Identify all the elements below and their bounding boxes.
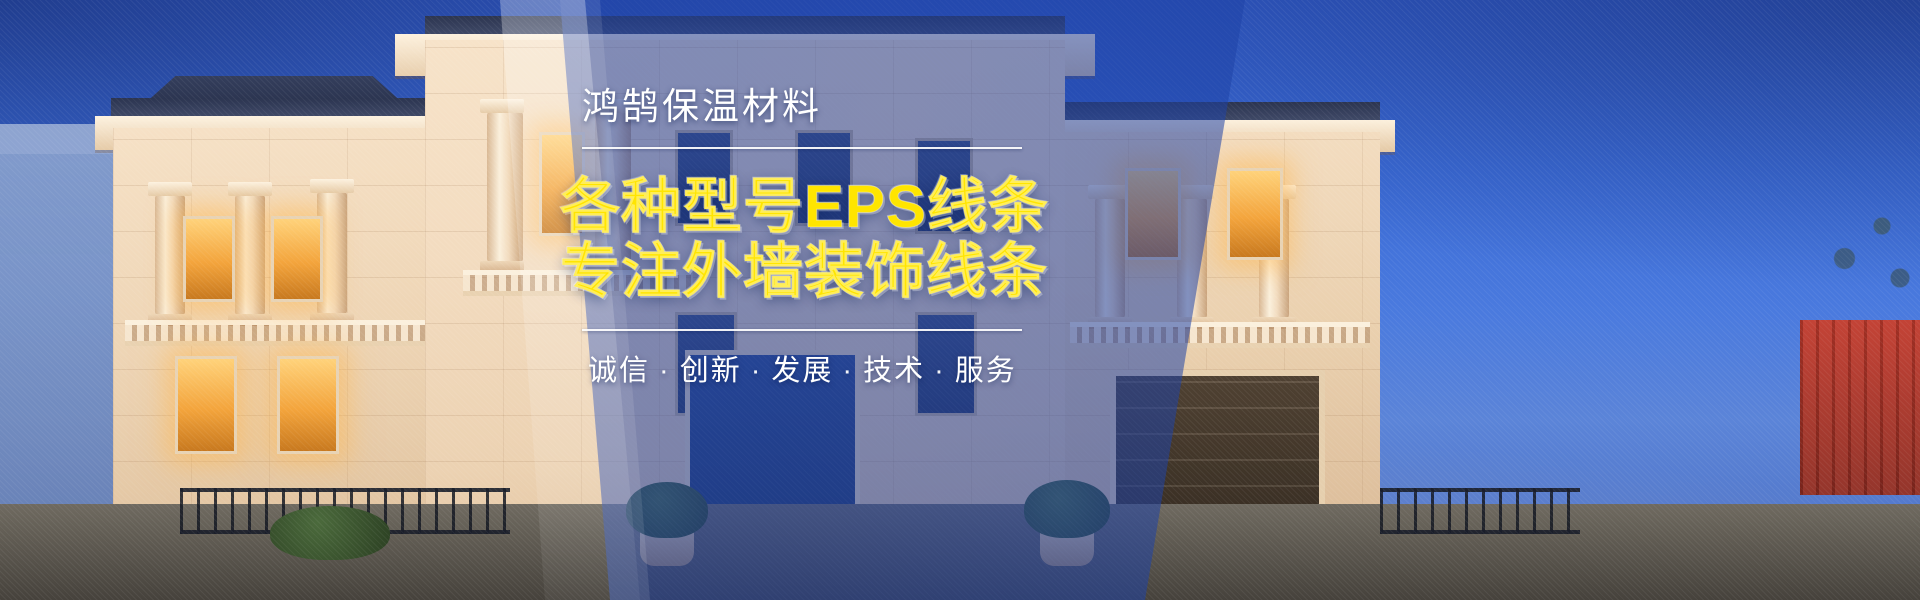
lit-window <box>183 216 235 302</box>
lit-window <box>1227 168 1283 260</box>
tagline-item: 创新 <box>680 355 742 387</box>
banner-content: 鸿鹄保温材料 各种型号EPS线条 专注外墙装饰线条 诚信·创新·发展·技术·服务 <box>560 88 1100 386</box>
balustrade <box>125 320 425 346</box>
tagline-separator: · <box>842 355 854 387</box>
column <box>1177 198 1207 318</box>
balustrade <box>1070 322 1370 348</box>
headline-line-2: 专注外墙装饰线条 <box>560 240 1100 305</box>
shrub <box>270 506 390 560</box>
tagline-item: 诚信 <box>588 355 650 387</box>
lit-window <box>175 356 237 454</box>
shrub <box>1024 480 1110 538</box>
tagline-item: 发展 <box>771 355 833 387</box>
tagline-separator: · <box>751 355 763 387</box>
tagline-separator: · <box>934 355 946 387</box>
brand-name: 鸿鹄保温材料 <box>582 88 1100 125</box>
lit-window <box>277 356 339 454</box>
iron-railing <box>1380 488 1580 534</box>
tagline-separator: · <box>659 355 671 387</box>
tagline-item: 服务 <box>955 355 1017 387</box>
tree-branch <box>1762 200 1912 330</box>
column <box>487 112 523 262</box>
lit-window <box>271 216 323 302</box>
divider-top <box>582 147 1022 149</box>
column <box>155 195 185 315</box>
shrub <box>626 482 708 538</box>
column <box>235 195 265 315</box>
tagline: 诚信·创新·发展·技术·服务 <box>588 357 1100 386</box>
headline-group: 各种型号EPS线条 专注外墙装饰线条 <box>560 175 1100 305</box>
lit-window <box>1125 168 1181 260</box>
divider-bottom <box>582 329 1022 331</box>
headline-line-1: 各种型号EPS线条 <box>560 175 1100 240</box>
red-container <box>1800 320 1920 495</box>
promotional-banner: 鸿鹄保温材料 各种型号EPS线条 专注外墙装饰线条 诚信·创新·发展·技术·服务 <box>0 0 1920 600</box>
tagline-item: 技术 <box>863 355 925 387</box>
